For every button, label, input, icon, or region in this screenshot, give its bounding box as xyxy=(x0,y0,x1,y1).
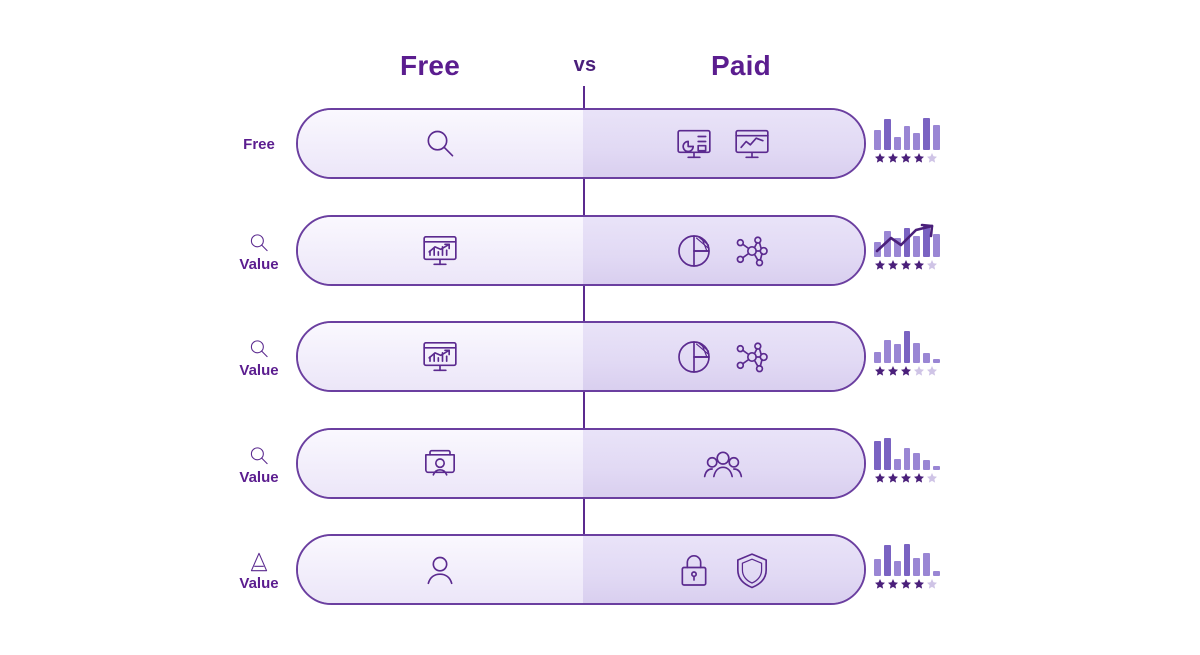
comparison-row: Value xyxy=(0,428,1200,500)
triangle-cone-icon xyxy=(246,549,272,575)
chart-monitor-icon xyxy=(420,231,460,271)
row-metrics xyxy=(874,436,940,492)
chart-monitor-icon xyxy=(420,337,460,377)
mini-bar xyxy=(913,343,920,363)
star xyxy=(887,365,899,377)
row-label-text: Value xyxy=(239,576,278,591)
mini-bar xyxy=(923,353,930,363)
comparison-pill[interactable] xyxy=(296,215,866,286)
mini-bar xyxy=(923,118,930,150)
pill-free-half[interactable] xyxy=(298,110,583,177)
comparison-pill[interactable] xyxy=(296,108,866,179)
pill-paid-half[interactable] xyxy=(583,536,864,603)
padlock-icon xyxy=(674,550,714,590)
star xyxy=(887,259,899,271)
magnifier-icon xyxy=(246,230,272,256)
comparison-pill[interactable] xyxy=(296,428,866,499)
pill-paid-half[interactable] xyxy=(583,110,864,177)
mini-bar xyxy=(923,460,930,470)
trend-arrow-up-icon xyxy=(874,221,940,259)
mini-bar xyxy=(904,331,911,363)
star xyxy=(874,578,886,590)
pill-paid-half[interactable] xyxy=(583,217,864,284)
mini-bar xyxy=(894,344,901,363)
mini-bar-chart xyxy=(874,116,940,150)
mini-bar xyxy=(913,453,920,470)
row-label: Value xyxy=(228,321,290,393)
star xyxy=(874,365,886,377)
column-header-paid: Paid xyxy=(711,50,771,82)
mini-bar xyxy=(874,559,881,576)
row-label-text: Value xyxy=(239,363,278,378)
star xyxy=(874,259,886,271)
magnifier-icon xyxy=(246,443,272,469)
star xyxy=(887,152,899,164)
star xyxy=(913,472,925,484)
star xyxy=(887,578,899,590)
row-label-text: Free xyxy=(243,137,275,152)
network-nodes-icon xyxy=(732,337,772,377)
mini-bar xyxy=(874,130,881,150)
pill-free-half[interactable] xyxy=(298,536,583,603)
pill-free-half[interactable] xyxy=(298,217,583,284)
row-metrics xyxy=(874,542,940,598)
mini-bar xyxy=(884,340,891,363)
pill-paid-half[interactable] xyxy=(583,430,864,497)
star xyxy=(887,472,899,484)
shield-icon xyxy=(732,550,772,590)
mini-bar xyxy=(913,558,920,576)
pie-chart-icon xyxy=(674,337,714,377)
star xyxy=(874,472,886,484)
comparison-row: Value xyxy=(0,215,1200,287)
user-icon xyxy=(420,550,460,590)
mini-bar xyxy=(904,126,911,150)
star-rating xyxy=(874,257,940,273)
dashboard-report-icon xyxy=(674,124,714,164)
star xyxy=(900,259,912,271)
comparison-pill[interactable] xyxy=(296,534,866,605)
row-label: Value xyxy=(228,215,290,287)
mini-bar-chart xyxy=(874,329,940,363)
pill-free-half[interactable] xyxy=(298,323,583,390)
mini-bar-chart xyxy=(874,436,940,470)
mini-bar xyxy=(894,561,901,576)
mini-bar xyxy=(884,119,891,150)
mini-bar xyxy=(884,438,891,470)
row-label-text: Value xyxy=(239,257,278,272)
pie-chart-icon xyxy=(674,231,714,271)
mini-bar xyxy=(913,133,920,150)
row-metrics xyxy=(874,329,940,385)
mini-bar xyxy=(894,137,901,150)
row-label: Free xyxy=(228,108,290,180)
people-group-icon xyxy=(703,444,743,484)
mini-bar xyxy=(874,441,881,470)
star xyxy=(900,152,912,164)
row-metrics xyxy=(874,116,940,172)
star xyxy=(900,365,912,377)
star xyxy=(913,578,925,590)
star xyxy=(926,578,938,590)
comparison-row: Free xyxy=(0,108,1200,180)
user-card-icon xyxy=(420,444,460,484)
star xyxy=(900,578,912,590)
star xyxy=(926,152,938,164)
star-rating xyxy=(874,150,940,166)
star xyxy=(913,365,925,377)
mini-bar xyxy=(923,553,930,576)
mini-bar xyxy=(884,545,891,576)
star xyxy=(926,365,938,377)
star-rating xyxy=(874,576,940,592)
mini-bar xyxy=(904,448,911,470)
column-header-free: Free xyxy=(400,50,460,82)
row-label-text: Value xyxy=(239,470,278,485)
star xyxy=(900,472,912,484)
row-metrics xyxy=(874,223,940,279)
star-rating xyxy=(874,470,940,486)
network-nodes-icon xyxy=(732,231,772,271)
line-chart-monitor-icon xyxy=(732,124,772,164)
mini-bar-chart xyxy=(874,542,940,576)
pill-paid-half[interactable] xyxy=(583,323,864,390)
row-label: Value xyxy=(228,534,290,606)
mini-bar xyxy=(904,544,911,576)
comparison-pill[interactable] xyxy=(296,321,866,392)
row-label: Value xyxy=(228,428,290,500)
magnifier-icon xyxy=(420,124,460,164)
mini-bar xyxy=(874,352,881,363)
column-header-vs: vs xyxy=(574,54,597,77)
star xyxy=(913,152,925,164)
comparison-infographic: Free vs Paid FreeValueValueValueValue xyxy=(0,0,1200,655)
pill-free-half[interactable] xyxy=(298,430,583,497)
star-rating xyxy=(874,363,940,379)
magnifier-icon xyxy=(246,336,272,362)
comparison-row: Value xyxy=(0,534,1200,606)
mini-bar xyxy=(933,125,940,150)
star xyxy=(874,152,886,164)
mini-bar xyxy=(894,459,901,470)
star xyxy=(913,259,925,271)
star xyxy=(926,259,938,271)
comparison-row: Value xyxy=(0,321,1200,393)
star xyxy=(926,472,938,484)
